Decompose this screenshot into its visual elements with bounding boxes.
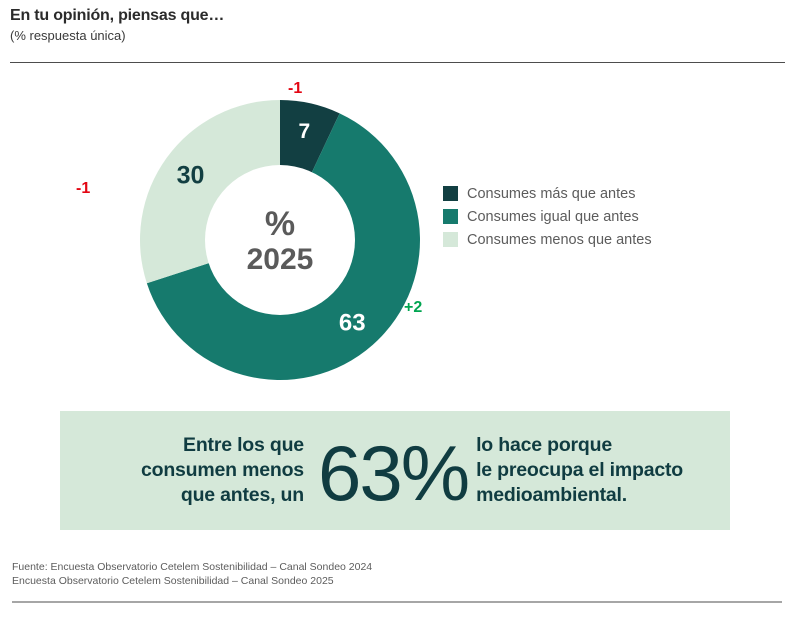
callout-right-line2: le preocupa el impacto xyxy=(476,458,683,483)
callout-left-text: Entre los que consumen menos que antes, … xyxy=(141,433,304,508)
chart-header: En tu opinión, piensas que… (% respuesta… xyxy=(10,6,785,45)
legend-swatch-igual-icon xyxy=(443,209,458,224)
legend-swatch-menos-icon xyxy=(443,232,458,247)
chart-legend: Consumes más que antes Consumes igual qu… xyxy=(443,182,652,251)
callout-right-line3: medioambiental. xyxy=(476,483,683,508)
legend-swatch-mas-icon xyxy=(443,186,458,201)
footer-divider xyxy=(12,601,782,603)
donut-center-year: 2025 xyxy=(247,243,314,276)
legend-item-mas[interactable]: Consumes más que antes xyxy=(443,182,652,205)
callout-left-line1: Entre los que xyxy=(141,433,304,458)
donut-chart: 76330 % 2025 xyxy=(140,100,420,380)
header-divider xyxy=(10,62,785,63)
page-subtitle: (% respuesta única) xyxy=(10,27,785,45)
donut-chart-svg: 76330 % 2025 xyxy=(140,100,420,380)
donut-value-label-0: 7 xyxy=(299,120,311,143)
legend-label-igual: Consumes igual que antes xyxy=(467,208,639,226)
highlight-callout: Entre los que consumen menos que antes, … xyxy=(60,411,730,530)
donut-center-percent: % xyxy=(265,205,295,243)
source-line-1: Fuente: Encuesta Observatorio Cetelem So… xyxy=(12,560,372,574)
delta-label-mas: -1 xyxy=(288,80,302,98)
source-footnote: Fuente: Encuesta Observatorio Cetelem So… xyxy=(12,560,372,588)
donut-value-label-2: 30 xyxy=(177,162,205,190)
delta-label-igual: +2 xyxy=(404,299,422,317)
legend-label-menos: Consumes menos que antes xyxy=(467,231,652,249)
source-line-2: Encuesta Observatorio Cetelem Sostenibil… xyxy=(12,574,372,588)
page-title: En tu opinión, piensas que… xyxy=(10,6,785,26)
legend-label-mas: Consumes más que antes xyxy=(467,185,635,203)
callout-content: Entre los que consumen menos que antes, … xyxy=(141,432,683,510)
callout-right-text: lo hace porque le preocupa el impacto me… xyxy=(476,433,683,508)
legend-item-igual[interactable]: Consumes igual que antes xyxy=(443,205,652,228)
legend-item-menos[interactable]: Consumes menos que antes xyxy=(443,228,652,251)
delta-label-menos: -1 xyxy=(76,180,90,198)
callout-big-value: 63% xyxy=(318,434,468,512)
callout-left-line2: consumen menos xyxy=(141,458,304,483)
donut-value-label-1: 63 xyxy=(339,309,366,336)
callout-right-line1: lo hace porque xyxy=(476,433,683,458)
callout-left-line3: que antes, un xyxy=(141,483,304,508)
